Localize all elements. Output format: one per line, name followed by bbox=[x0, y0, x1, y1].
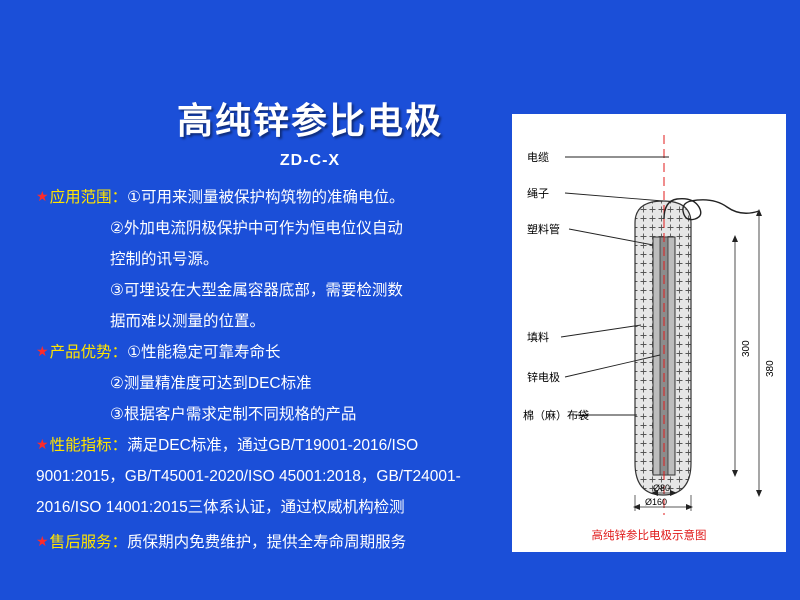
dimension-diameter-80: Ø80 bbox=[653, 483, 670, 493]
star-icon: ★ bbox=[36, 533, 49, 549]
bullet-4: ③可埋设在大型金属容器底部，需要检测数 bbox=[36, 275, 506, 306]
bullet-8: ③根据客户需求定制不同规格的产品 bbox=[36, 399, 506, 430]
dimension-380: 380 bbox=[765, 360, 776, 377]
bullet-text-6: ①性能稳定可靠寿命长 bbox=[127, 344, 280, 361]
dimension-diameter-160: Ø160 bbox=[645, 497, 667, 507]
bullet-2: ②外加电流阴极保护中可作为恒电位仪自动 bbox=[36, 213, 506, 244]
bullet-10: ★售后服务：质保期内免费维护，提供全寿命周期服务 bbox=[36, 527, 506, 558]
bullet-label-advantage: 产品优势： bbox=[50, 344, 128, 361]
star-icon: ★ bbox=[36, 436, 49, 452]
bullet-3: 控制的讯号源。 bbox=[36, 244, 506, 275]
slide-root: 高纯锌参比电极 ZD-C-X ★应用范围：①可用来测量被保护构筑物的准确电位。 … bbox=[0, 0, 800, 600]
bullet-5: 据而难以测量的位置。 bbox=[36, 306, 506, 337]
bullet-7: ②测量精准度可达到DEC标准 bbox=[36, 368, 506, 399]
bullet-label-performance: 性能指标： bbox=[50, 437, 128, 454]
page-title: 高纯锌参比电极 bbox=[140, 92, 480, 144]
bullet-label-service: 售后服务： bbox=[50, 534, 128, 551]
bullet-1: ★应用范围：①可用来测量被保护构筑物的准确电位。 bbox=[36, 182, 506, 213]
electrode-drawing bbox=[513, 115, 785, 551]
figure-caption: 高纯锌参比电极示意图 bbox=[513, 527, 785, 543]
label-filler: 填料 bbox=[527, 331, 549, 345]
bullet-9: ★性能指标：满足DEC标准，通过GB/T19001-2016/ISO 9001:… bbox=[36, 430, 506, 523]
dimension-300: 300 bbox=[741, 340, 752, 357]
label-cable: 电缆 bbox=[527, 151, 549, 165]
model-subtitle: ZD-C-X bbox=[140, 152, 480, 170]
label-plastic-tube: 塑料管 bbox=[527, 223, 560, 237]
bullet-text-1: ①可用来测量被保护构筑物的准确电位。 bbox=[127, 189, 404, 206]
label-zinc-electrode: 锌电极 bbox=[527, 371, 560, 385]
bullet-6: ★产品优势：①性能稳定可靠寿命长 bbox=[36, 337, 506, 368]
bullet-text-10: 质保期内免费维护，提供全寿命周期服务 bbox=[127, 534, 406, 551]
label-rope: 绳子 bbox=[527, 187, 549, 201]
bullet-label-scope: 应用范围： bbox=[50, 189, 128, 206]
label-cotton-bag: 棉（麻）布袋 bbox=[523, 409, 589, 423]
star-icon: ★ bbox=[36, 188, 49, 204]
electrode-diagram: 电缆 绳子 塑料管 填料 锌电极 棉（麻）布袋 300 380 Ø160 Ø80… bbox=[512, 114, 786, 552]
star-icon: ★ bbox=[36, 343, 49, 359]
body-text: ★应用范围：①可用来测量被保护构筑物的准确电位。 ②外加电流阴极保护中可作为恒电… bbox=[36, 182, 506, 558]
